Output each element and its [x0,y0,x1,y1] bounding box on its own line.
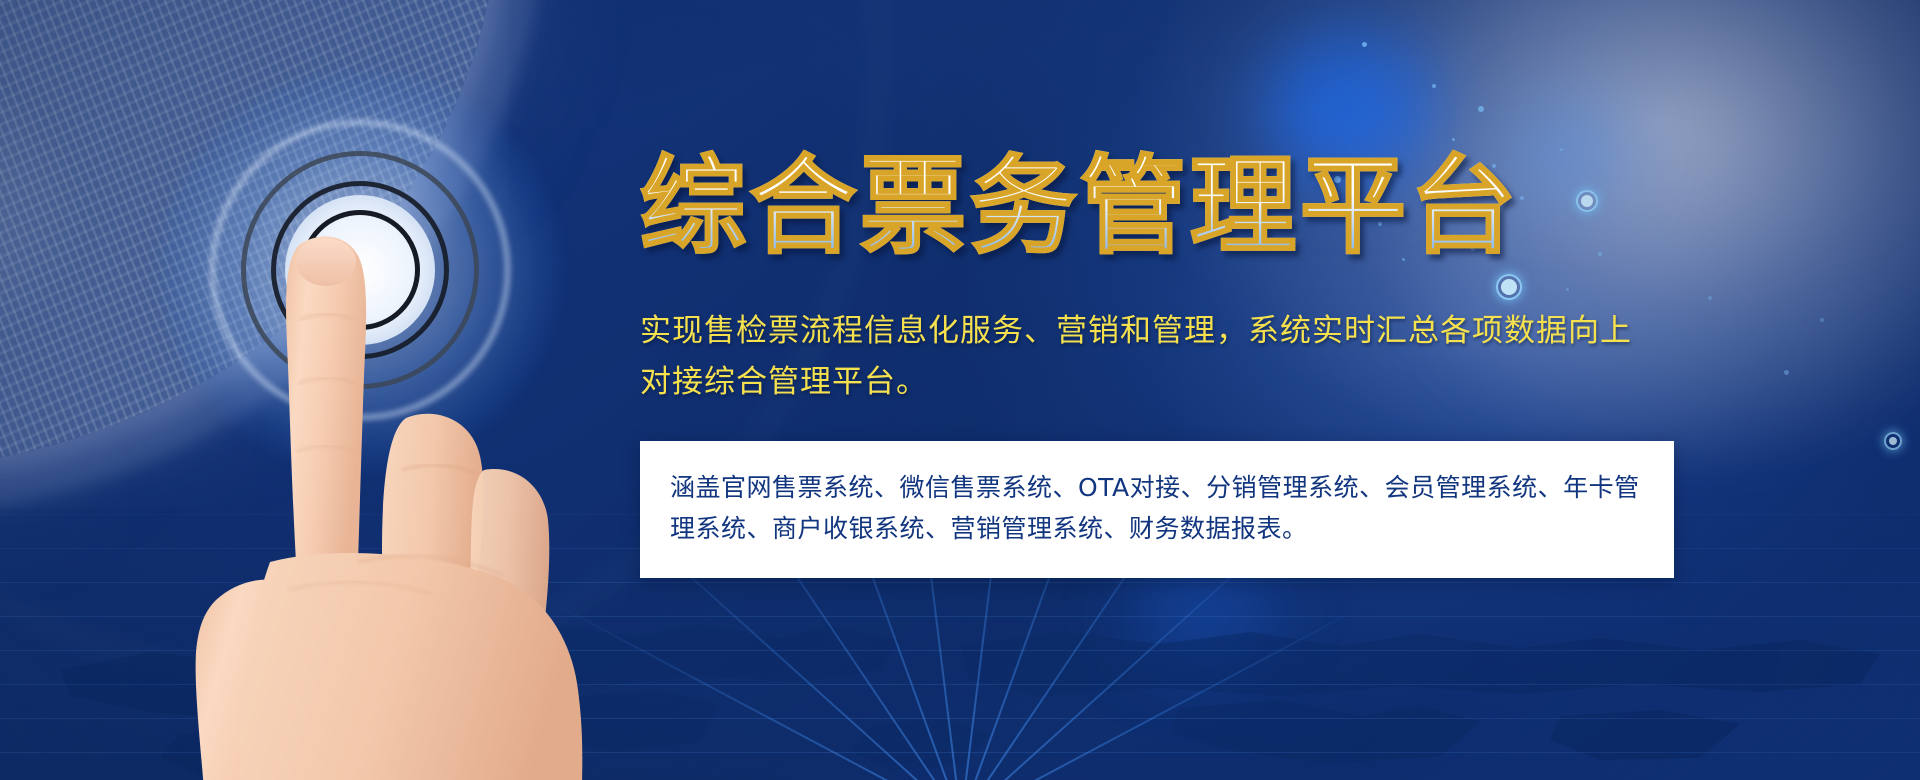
fingernail [296,238,356,286]
content-column: 综合票务管理平台 实现售检票流程信息化服务、营销和管理，系统实时汇总各项数据向上… [640,150,1700,578]
hand-pointing-graphic [120,170,640,780]
page-subtitle: 实现售检票流程信息化服务、营销和管理，系统实时汇总各项数据向上对接综合管理平台。 [640,306,1660,406]
page-title: 综合票务管理平台 [640,150,1700,262]
hero-banner: 综合票务管理平台 实现售检票流程信息化服务、营销和管理，系统实时汇总各项数据向上… [0,0,1920,780]
feature-panel-text: 涵盖官网售票系统、微信售票系统、OTA对接、分销管理系统、会员管理系统、年卡管理… [670,467,1644,550]
feature-panel: 涵盖官网售票系统、微信售票系统、OTA对接、分销管理系统、会员管理系统、年卡管理… [640,441,1674,578]
